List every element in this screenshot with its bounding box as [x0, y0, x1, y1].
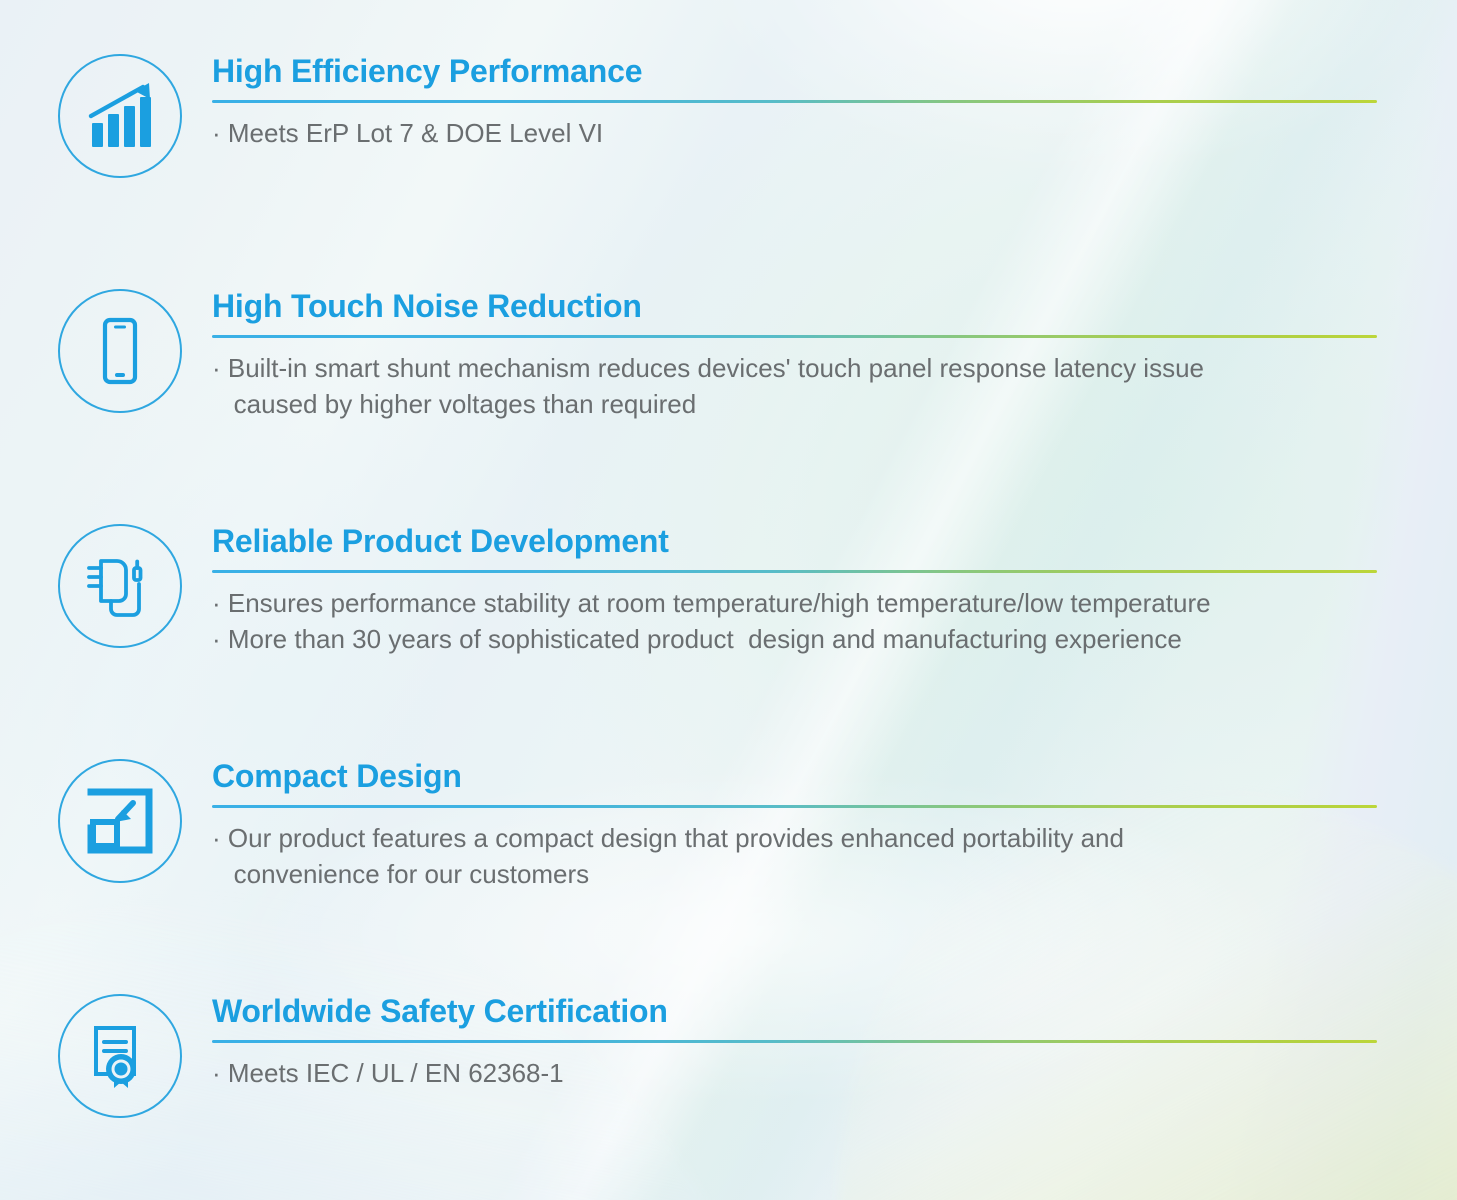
feature-divider	[212, 1040, 1377, 1043]
feature-bullet-line: · More than 30 years of sophisticated pr…	[212, 621, 1377, 658]
feature-title: High Touch Noise Reduction	[212, 289, 1377, 324]
feature-icon-container	[58, 524, 182, 648]
feature-bullet-line: · Meets ErP Lot 7 & DOE Level VI	[212, 115, 1377, 152]
feature-icon-container	[58, 994, 182, 1118]
feature-description: · Ensures performance stability at room …	[212, 585, 1377, 659]
power-adapter-icon	[58, 524, 182, 648]
feature-title: Compact Design	[212, 759, 1377, 794]
smartphone-icon	[58, 289, 182, 413]
feature-divider	[212, 335, 1377, 338]
feature-highlights-page: High Efficiency Performance · Meets ErP …	[0, 0, 1457, 1200]
feature-title: High Efficiency Performance	[212, 54, 1377, 89]
feature-description: · Built-in smart shunt mechanism reduces…	[212, 350, 1377, 424]
bar-chart-growth-icon	[58, 54, 182, 178]
resize-compact-icon	[58, 759, 182, 883]
feature-title: Reliable Product Development	[212, 524, 1377, 559]
feature-description: · Meets IEC / UL / EN 62368-1	[212, 1055, 1377, 1092]
feature-icon-container	[58, 289, 182, 413]
feature-text-block: High Efficiency Performance · Meets ErP …	[212, 54, 1377, 151]
feature-divider	[212, 100, 1377, 103]
feature-description: · Our product features a compact design …	[212, 820, 1377, 894]
feature-bullet-line: convenience for our customers	[212, 856, 1377, 893]
certificate-seal-icon	[58, 994, 182, 1118]
feature-icon-container	[58, 54, 182, 178]
feature-bullet-line: caused by higher voltages than required	[212, 386, 1377, 423]
feature-title: Worldwide Safety Certification	[212, 994, 1377, 1029]
feature-icon-container	[58, 759, 182, 883]
feature-bullet-line: · Built-in smart shunt mechanism reduces…	[212, 350, 1377, 387]
feature-text-block: Compact Design · Our product features a …	[212, 759, 1377, 893]
feature-bullet-line: · Meets IEC / UL / EN 62368-1	[212, 1055, 1377, 1092]
feature-text-block: Worldwide Safety Certification · Meets I…	[212, 994, 1377, 1091]
feature-bullet-line: · Ensures performance stability at room …	[212, 585, 1377, 622]
feature-bullet-line: · Our product features a compact design …	[212, 820, 1377, 857]
feature-text-block: Reliable Product Development · Ensures p…	[212, 524, 1377, 658]
feature-divider	[212, 570, 1377, 573]
feature-description: · Meets ErP Lot 7 & DOE Level VI	[212, 115, 1377, 152]
feature-text-block: High Touch Noise Reduction · Built-in sm…	[212, 289, 1377, 423]
feature-divider	[212, 805, 1377, 808]
